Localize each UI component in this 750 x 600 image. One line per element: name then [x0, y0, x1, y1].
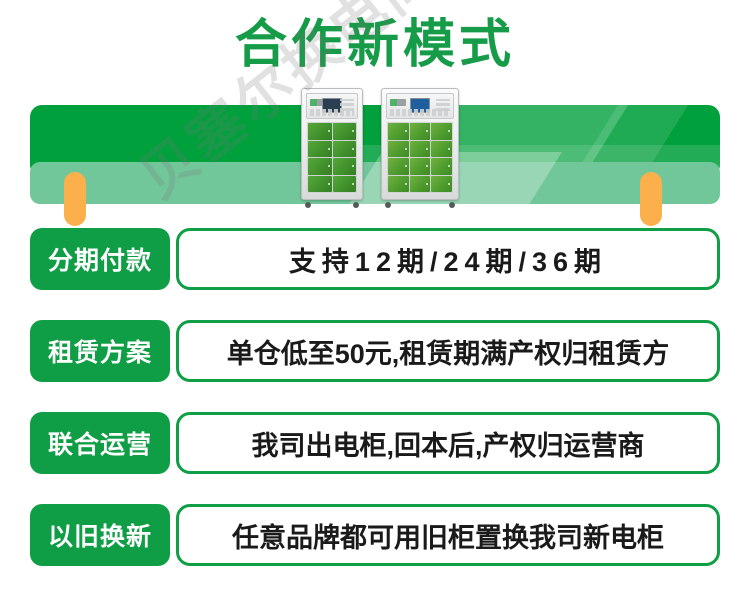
locker-door	[308, 141, 332, 158]
cabinet-control-panel	[386, 93, 454, 119]
battery-swap-cabinet-12-slot	[381, 88, 459, 208]
wheel-icon	[305, 202, 311, 208]
side-keypad-icon	[436, 99, 450, 111]
locker-door	[388, 123, 409, 140]
cabinet-control-panel	[306, 93, 358, 119]
locker-door	[431, 141, 452, 158]
feature-rows: 分期付款 支持12期/24期/36期 租赁方案 单仓低至50元,租赁期满产权归租…	[0, 228, 750, 596]
locker-door	[410, 158, 431, 175]
brand-logo-icon	[390, 99, 406, 106]
wheel-icon	[353, 202, 359, 208]
locker-grid	[307, 122, 357, 193]
feature-content-lease: 单仓低至50元,租赁期满产权归租赁方	[176, 320, 720, 382]
feature-label-joint-operation: 联合运营	[30, 412, 170, 474]
locker-door	[388, 141, 409, 158]
locker-door	[308, 123, 332, 140]
left-pill	[64, 172, 86, 226]
cabinet-body	[301, 88, 363, 200]
feature-label-installment: 分期付款	[30, 228, 170, 290]
feature-label-trade-in: 以旧换新	[30, 504, 170, 566]
locker-grid	[387, 122, 453, 193]
locker-door	[333, 158, 357, 175]
locker-door	[308, 176, 332, 193]
cabinet-body	[381, 88, 459, 200]
locker-door	[431, 176, 452, 193]
feature-row-lease: 租赁方案 单仓低至50元,租赁期满产权归租赁方	[0, 320, 750, 382]
locker-door	[333, 176, 357, 193]
cabinet-wheels	[385, 200, 455, 208]
feature-content-trade-in: 任意品牌都可用旧柜置换我司新电柜	[176, 504, 720, 566]
feature-row-trade-in: 以旧换新 任意品牌都可用旧柜置换我司新电柜	[0, 504, 750, 566]
cabinet-wheels	[305, 200, 359, 208]
locker-door	[410, 176, 431, 193]
locker-door	[308, 158, 332, 175]
locker-door	[410, 123, 431, 140]
right-pill	[640, 172, 662, 226]
locker-door	[388, 158, 409, 175]
wheel-icon	[385, 202, 391, 208]
locker-door	[333, 141, 357, 158]
banner-shelf-band	[30, 162, 720, 204]
page-title: 合作新模式	[0, 14, 750, 76]
locker-door	[431, 123, 452, 140]
locker-door	[431, 158, 452, 175]
wheel-icon	[449, 202, 455, 208]
feature-row-installment: 分期付款 支持12期/24期/36期	[0, 228, 750, 290]
feature-content-joint-operation: 我司出电柜,回本后,产权归运营商	[176, 412, 720, 474]
locker-door	[388, 176, 409, 193]
battery-swap-cabinet-8-slot	[301, 88, 363, 208]
side-keypad-icon	[340, 99, 354, 111]
feature-content-installment: 支持12期/24期/36期	[176, 228, 720, 290]
locker-door	[410, 141, 431, 158]
feature-label-lease: 租赁方案	[30, 320, 170, 382]
feature-row-joint-operation: 联合运营 我司出电柜,回本后,产权归运营商	[0, 412, 750, 474]
hero-banner	[0, 86, 750, 216]
promo-page: 合作新模式	[0, 0, 750, 600]
locker-door	[333, 123, 357, 140]
